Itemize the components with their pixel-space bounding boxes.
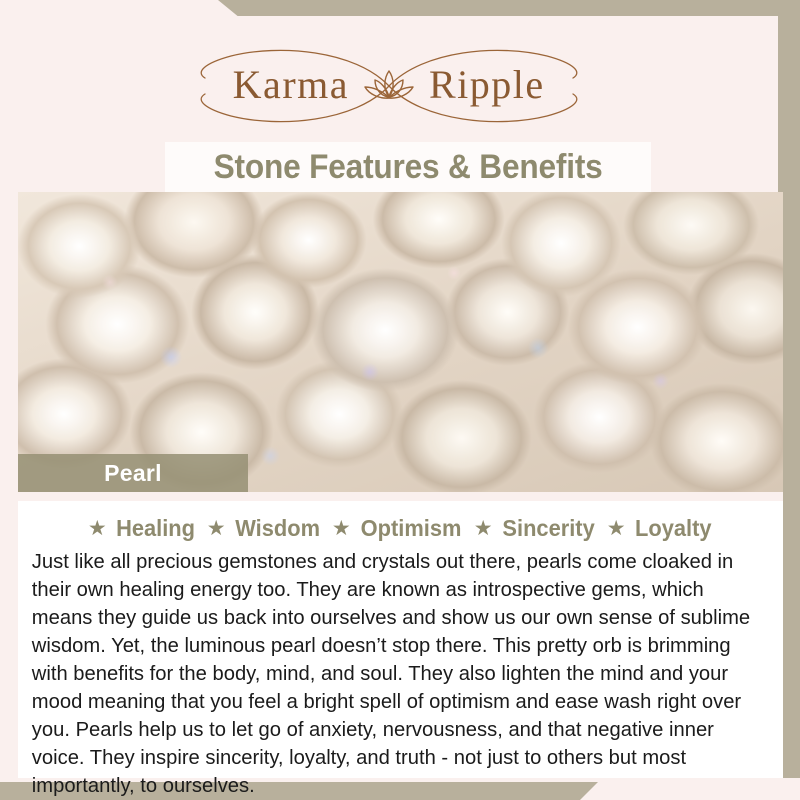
keyword-label: Wisdom [235, 515, 320, 542]
title-banner: Stone Features & Benefits [165, 142, 651, 192]
content-area: ★ Healing ★ Wisdom ★ Optimism ★ Sincerit… [18, 501, 783, 778]
photo-divider [18, 492, 783, 501]
keyword-item-loyalty: ★ Loyalty [607, 515, 713, 542]
infographic-page: Karma Ripple Stone Fea [0, 0, 800, 800]
page-title: Stone Features & Benefits [214, 148, 603, 187]
keyword-label: Healing [116, 515, 195, 542]
keyword-label: Sincerity [502, 515, 594, 542]
stone-photo: Pearl [18, 192, 783, 492]
keyword-item-healing: ★ Healing [88, 515, 197, 542]
keyword-item-sincerity: ★ Sincerity [474, 515, 597, 542]
star-icon: ★ [207, 518, 226, 539]
star-icon: ★ [332, 518, 351, 539]
stone-name-plate: Pearl [18, 454, 248, 492]
star-icon: ★ [607, 518, 626, 539]
brand-word-left: Karma [159, 65, 359, 105]
brand-logo[interactable]: Karma Ripple [159, 42, 619, 128]
lotus-icon [359, 65, 419, 105]
keyword-list: ★ Healing ★ Wisdom ★ Optimism ★ Sincerit… [18, 515, 783, 542]
brand-word-right: Ripple [419, 65, 619, 105]
star-icon: ★ [474, 518, 493, 539]
keyword-label: Optimism [360, 515, 461, 542]
stone-description: Just like all precious gemstones and cry… [18, 548, 772, 800]
star-icon: ★ [88, 518, 107, 539]
pearl-photo-image [18, 192, 783, 492]
stone-name-label: Pearl [104, 460, 162, 487]
keyword-label: Loyalty [635, 515, 712, 542]
page-header: Karma Ripple [0, 16, 778, 142]
keyword-item-wisdom: ★ Wisdom [207, 515, 322, 542]
keyword-item-optimism: ★ Optimism [332, 515, 464, 542]
